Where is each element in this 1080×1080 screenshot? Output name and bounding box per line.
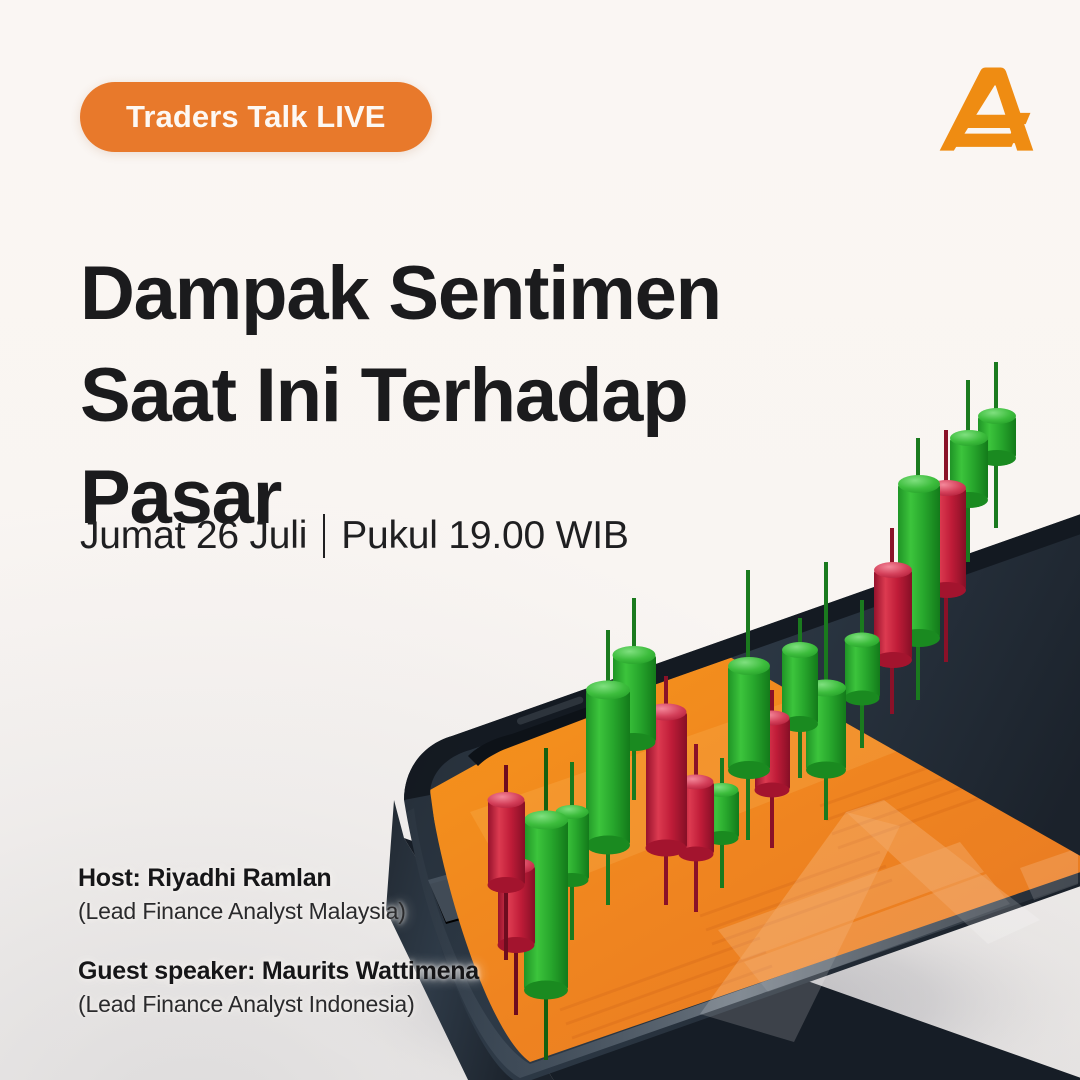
headline-line-1: Dampak Sentimen bbox=[80, 243, 840, 345]
guest-name: Guest speaker: Maurits Wattimena bbox=[78, 957, 479, 986]
phone-body bbox=[404, 508, 1080, 1080]
live-badge[interactable]: Traders Talk LIVE bbox=[80, 82, 432, 152]
host-name: Host: Riyadhi Ramlan bbox=[78, 864, 479, 893]
speaker-host: Host: Riyadhi Ramlan (Lead Finance Analy… bbox=[78, 864, 479, 925]
screen-line-pattern bbox=[560, 742, 1018, 1038]
event-time: Pukul 19.00 WIB bbox=[341, 514, 628, 558]
screen-light-band bbox=[470, 594, 1080, 900]
host-role: (Lead Finance Analyst Malaysia) bbox=[78, 898, 479, 925]
phone-screen bbox=[430, 528, 1080, 1062]
phone-device bbox=[386, 508, 1080, 1080]
speaker-guest: Guest speaker: Maurits Wattimena (Lead F… bbox=[78, 957, 479, 1018]
candle-group-left bbox=[488, 598, 657, 1060]
event-schedule: Jumat 26 Juli Pukul 19.00 WIB bbox=[80, 514, 629, 558]
event-date: Jumat 26 Juli bbox=[80, 514, 307, 558]
phone-rim-highlight bbox=[407, 808, 1080, 1078]
phone-bottom-edge bbox=[404, 838, 1080, 1080]
brand-a-logo bbox=[934, 58, 1038, 162]
candle-group-right bbox=[845, 362, 1017, 748]
candle-group-middle bbox=[646, 562, 847, 912]
guest-role: (Lead Finance Analyst Indonesia) bbox=[78, 991, 479, 1018]
screen-watermark-a-logo bbox=[700, 800, 1078, 1042]
schedule-separator bbox=[323, 514, 325, 558]
phone-earpiece bbox=[516, 696, 584, 726]
speakers-list: Host: Riyadhi Ramlan (Lead Finance Analy… bbox=[78, 864, 479, 1018]
headline-line-2: Saat Ini Terhadap bbox=[80, 345, 840, 447]
phone-notch bbox=[468, 703, 601, 766]
live-badge-label: Traders Talk LIVE bbox=[126, 99, 386, 135]
promo-poster: Traders Talk LIVE Dampak Sentimen Saat I… bbox=[0, 0, 1080, 1080]
page-title: Dampak Sentimen Saat Ini Terhadap Pasar bbox=[80, 243, 840, 548]
